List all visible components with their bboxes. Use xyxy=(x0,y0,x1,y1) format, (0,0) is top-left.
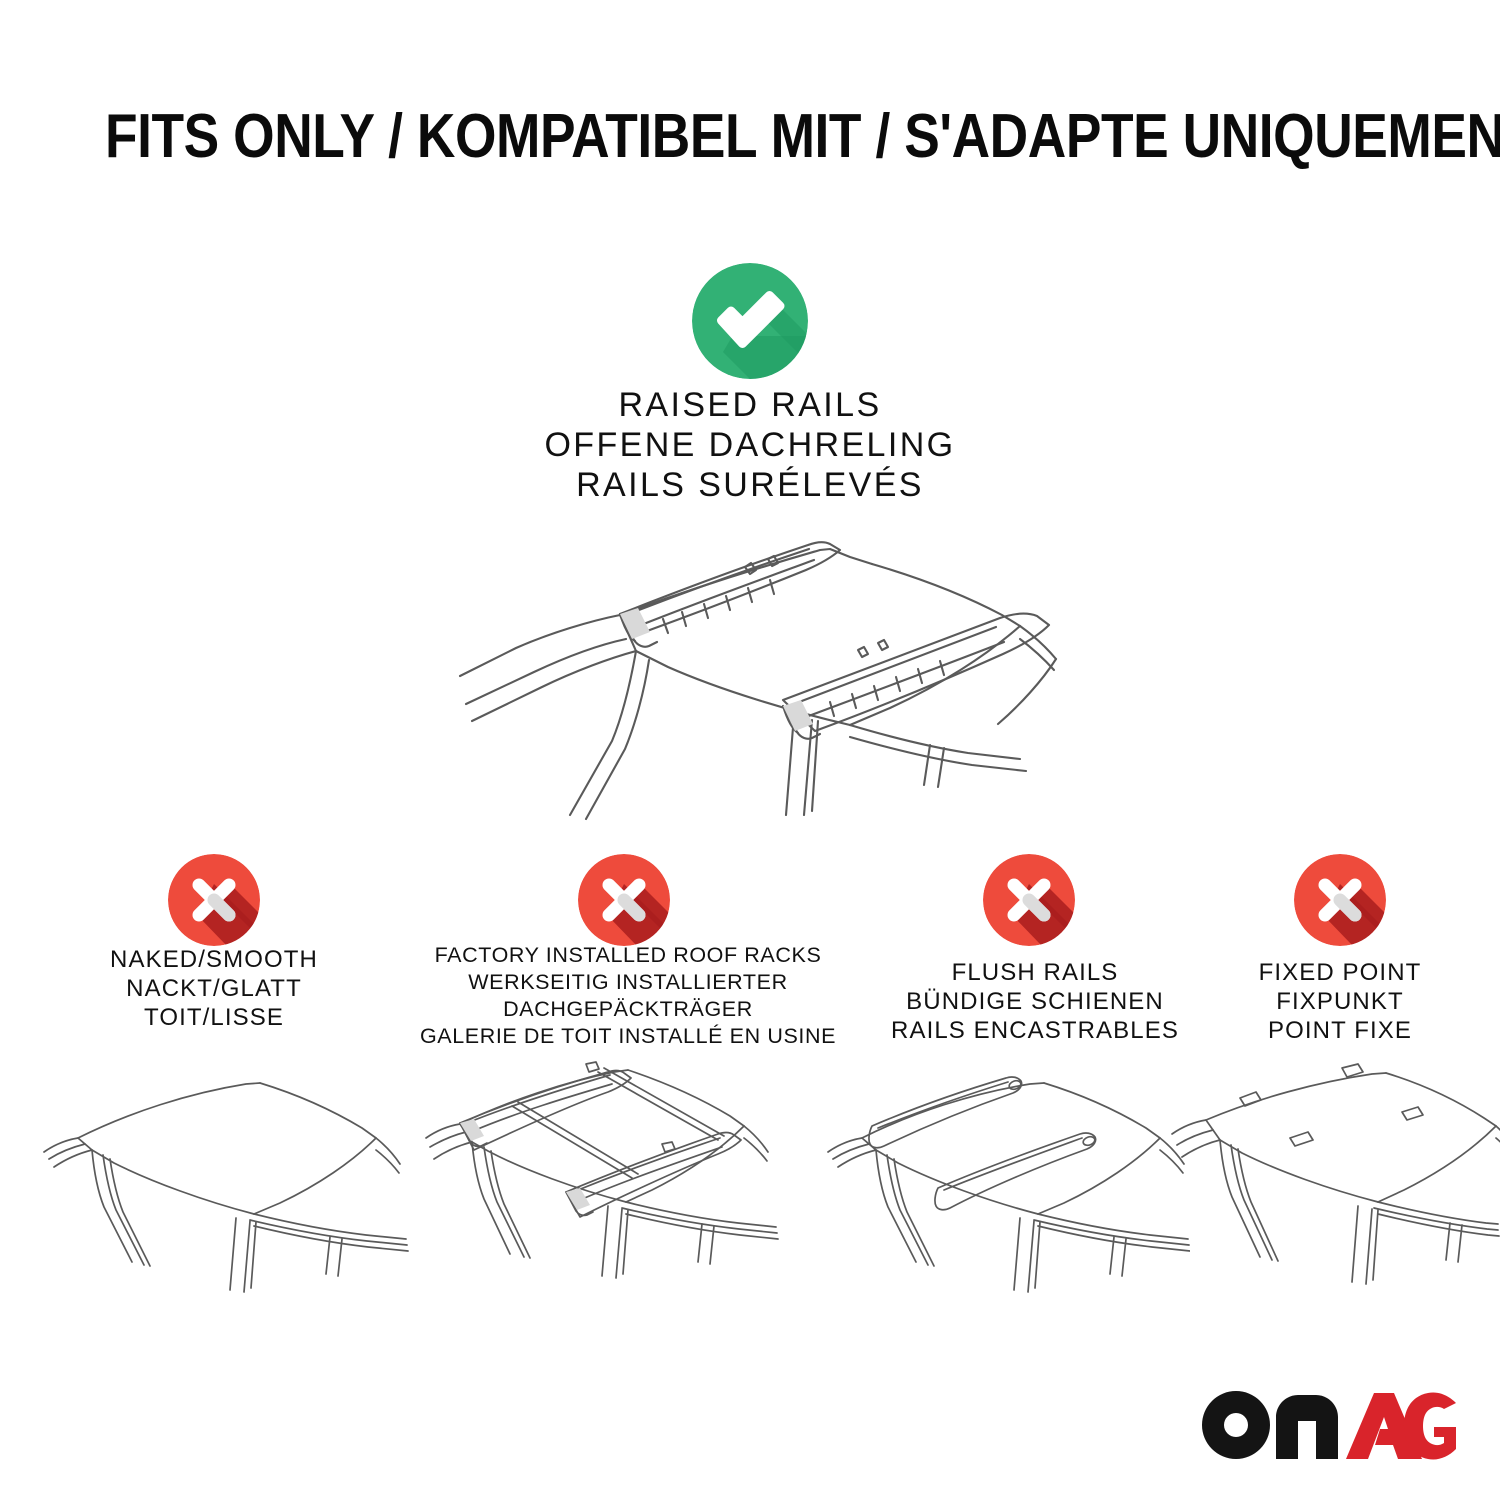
caption-line-en: FIXED POINT xyxy=(1180,958,1500,987)
car-roof-factory-roof-racks-illustration xyxy=(400,1058,780,1298)
caption-line-en: NAKED/SMOOTH xyxy=(34,945,394,974)
x-circle-icon xyxy=(168,854,260,946)
compatible-caption: RAISED RAILS OFFENE DACHRELING RAILS SUR… xyxy=(350,385,1150,505)
car-roof-raised-rails-illustration xyxy=(420,515,1090,835)
page-title: FITS ONLY / KOMPATIBEL MIT / S'ADAPTE UN… xyxy=(105,104,1395,170)
car-roof-fixed-point-illustration xyxy=(1160,1060,1500,1295)
incompatible-caption-naked-smooth: NAKED/SMOOTH NACKT/GLATT TOIT/LISSE xyxy=(34,945,394,1032)
caption-line-fr: RAILS ENCASTRABLES xyxy=(845,1016,1225,1045)
incompatible-caption-fixed-point: FIXED POINT FIXPUNKT POINT FIXE xyxy=(1180,958,1500,1045)
compatible-line-en: RAISED RAILS xyxy=(350,385,1150,425)
caption-line-de-2: DACHGEPÄCKTRÄGER xyxy=(398,996,858,1023)
caption-line-fr: GALERIE DE TOIT INSTALLÉ EN USINE xyxy=(398,1023,858,1050)
check-circle-icon xyxy=(692,263,808,379)
x-circle-icon xyxy=(1294,854,1386,946)
caption-line-de: BÜNDIGE SCHIENEN xyxy=(845,987,1225,1016)
x-circle-icon xyxy=(578,854,670,946)
caption-line-en: FACTORY INSTALLED ROOF RACKS xyxy=(398,942,858,969)
caption-line-en: FLUSH RAILS xyxy=(845,958,1225,987)
incompatible-caption-factory-roof-racks: FACTORY INSTALLED ROOF RACKS WERKSEITIG … xyxy=(398,942,858,1050)
caption-line-de: FIXPUNKT xyxy=(1180,987,1500,1016)
caption-line-fr: POINT FIXE xyxy=(1180,1016,1500,1045)
compatible-line-de: OFFENE DACHRELING xyxy=(350,425,1150,465)
omac-logo xyxy=(1198,1387,1460,1465)
caption-line-fr: TOIT/LISSE xyxy=(34,1003,394,1032)
car-roof-naked-smooth-illustration xyxy=(40,1060,410,1295)
fitment-infographic: FITS ONLY / KOMPATIBEL MIT / S'ADAPTE UN… xyxy=(0,0,1500,1500)
caption-line-de-1: WERKSEITIG INSTALLIERTER xyxy=(398,969,858,996)
car-roof-flush-rails-illustration xyxy=(810,1060,1190,1295)
incompatible-caption-flush-rails: FLUSH RAILS BÜNDIGE SCHIENEN RAILS ENCAS… xyxy=(845,958,1225,1045)
caption-line-de: NACKT/GLATT xyxy=(34,974,394,1003)
x-circle-icon xyxy=(983,854,1075,946)
compatible-line-fr: RAILS SURÉLEVÉS xyxy=(350,465,1150,505)
